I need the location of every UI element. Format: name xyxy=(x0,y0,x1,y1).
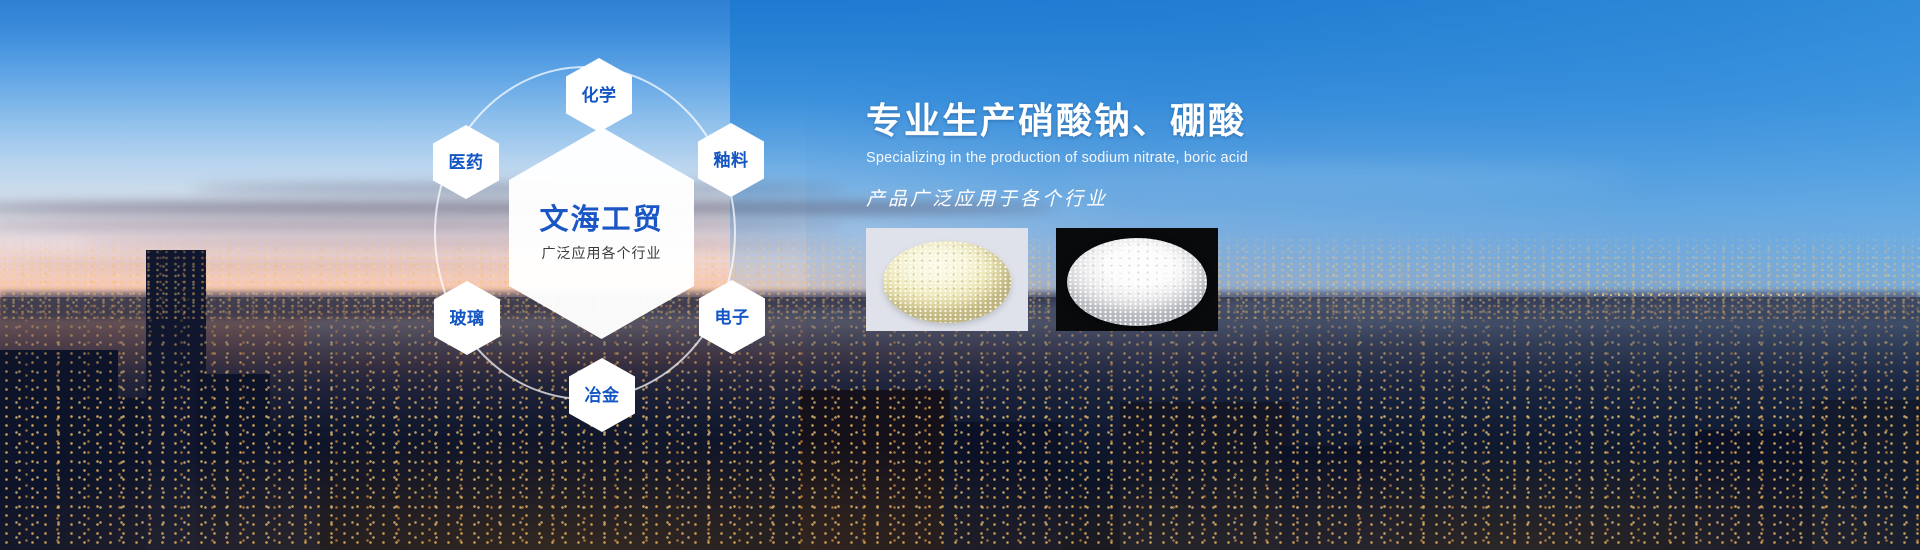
brand-name: 文海工贸 xyxy=(539,206,663,235)
city-glow xyxy=(0,385,1920,550)
promo-copy: 专业生产硝酸钠、硼酸 Specializing in the productio… xyxy=(866,100,1386,212)
powder-pile xyxy=(1067,238,1207,326)
headline-english: Specializing in the production of sodium… xyxy=(866,150,1386,167)
hex-node-label: 化学 xyxy=(582,87,617,104)
hex-node-label: 医药 xyxy=(449,154,484,171)
product-photo-group xyxy=(866,228,1218,331)
industry-hexagon-diagram: 化学 釉料 电子 冶金 玻璃 医药 文海工贸 广泛应用各个行业 xyxy=(425,28,775,438)
powder-texture xyxy=(883,241,1011,323)
hex-node-label: 冶金 xyxy=(585,387,620,404)
hex-node-label: 电子 xyxy=(715,309,750,326)
tagline: 产品广泛应用于各个行业 xyxy=(866,189,1386,212)
product-photo-boric-acid[interactable] xyxy=(1056,228,1218,331)
product-photo-sodium-nitrate[interactable] xyxy=(866,228,1028,331)
brand-tagline: 广泛应用各个行业 xyxy=(542,246,662,260)
powder-texture xyxy=(1067,238,1207,326)
headline: 专业生产硝酸钠、硼酸 xyxy=(866,100,1386,141)
promo-banner: 化学 釉料 电子 冶金 玻璃 医药 文海工贸 广泛应用各个行业 专业生产硝酸钠、… xyxy=(0,0,1920,550)
powder-pile xyxy=(883,241,1011,323)
hex-node-label: 玻璃 xyxy=(450,310,485,327)
hex-node-label: 釉料 xyxy=(714,152,749,169)
